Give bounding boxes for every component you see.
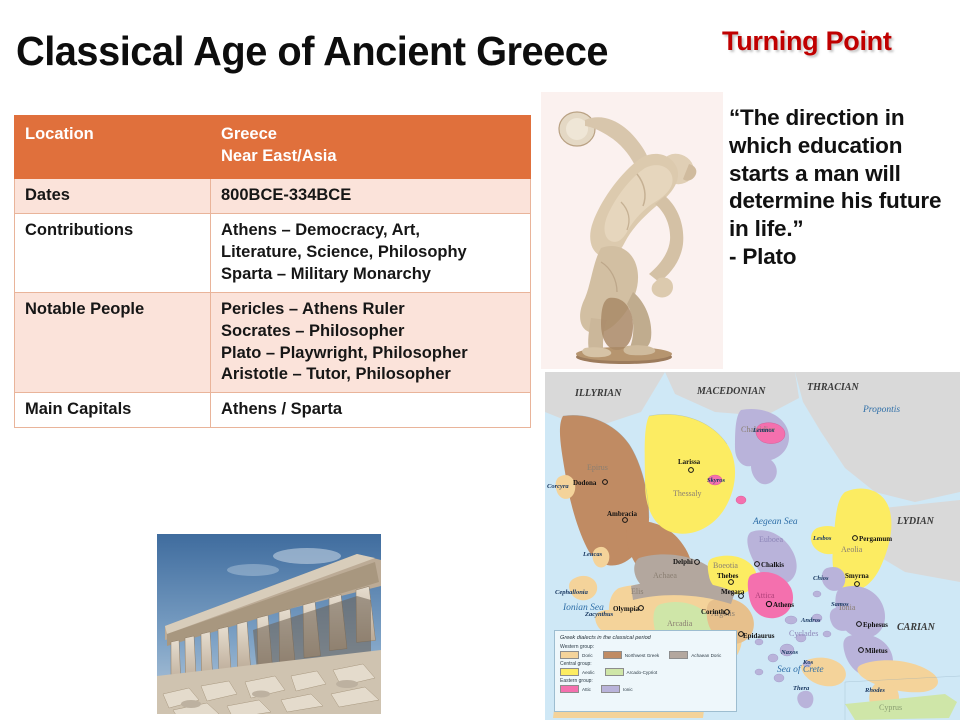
map-label-cephallonia: Cephallonia [555,589,589,596]
svg-text:Megara: Megara [721,588,745,596]
map-label-cyprus: Cyprus [879,703,902,712]
plato-quote: “The direction in which education starts… [729,104,951,271]
parthenon-image [157,534,381,714]
map-label-elis: Elis [631,587,643,596]
svg-text:Chalkis: Chalkis [761,561,784,569]
map-label-chios: Chios [813,575,829,582]
legend-group-title: Central group: [560,661,731,667]
table-row-value: Athens – Democracy, Art,Literature, Scie… [211,213,531,292]
table-cell-line: Socrates – Philosopher [221,321,530,343]
svg-text:Pergamum: Pergamum [859,535,892,543]
map-label-boeotia: Boeotia [713,561,738,570]
legend-group-row: DoricNorthwest GreekAchaean Doric [560,651,731,659]
svg-text:Corinth: Corinth [701,608,725,616]
map-label-epirus: Epirus [587,463,608,472]
map-label-carian: CARIAN [897,622,936,633]
map-label-thracian: THRACIAN [807,382,859,393]
svg-text:Larissa: Larissa [678,458,701,466]
map-label-achaea: Achaea [653,571,677,580]
legend-swatch [601,685,620,693]
table-cell-line: Aristotle – Tutor, Philosopher [221,364,530,386]
legend-group-title: Eastern group: [560,678,731,684]
page-title: Classical Age of Ancient Greece [16,28,608,75]
map-label-zacynthus: Zacynthus [584,611,614,618]
map-label-attica: Attica [755,591,775,600]
quote-text: “The direction in which education starts… [729,105,941,241]
map-label-cyclades: Cyclades [789,629,818,638]
legend-group-title: Western group: [560,644,731,650]
map-label-lemnos: Lemnos [752,427,775,434]
legend-swatch-label: Attic [582,687,591,692]
table-row: Notable PeoplePericles – Athens RulerSoc… [15,292,531,393]
table-row-label: Notable People [15,292,211,393]
map-label-aeolia: Aeolia [841,545,863,554]
table-row: Dates800BCE-334BCE [15,178,531,213]
map-label-samos: Samos [831,601,849,608]
legend-swatch-label: Northwest Greek [625,653,659,658]
map-label-euboea: Euboea [759,535,783,544]
map-label-illyrian: ILLYRIAN [574,388,622,399]
svg-text:Thebes: Thebes [717,572,739,580]
turning-point-badge: Turning Point [722,26,892,57]
svg-text:Epidaurus: Epidaurus [743,632,775,640]
legend-swatch [560,685,579,693]
slide-canvas: Classical Age of Ancient Greece Turning … [0,0,960,720]
map-label-naxos: Naxos [780,649,798,656]
table-cell-line: Sparta – Military Monarchy [221,264,530,286]
map-label-sea-of-crete: Sea of Crete [777,664,824,675]
table-row: LocationGreeceNear East/Asia [15,116,531,179]
map-label-aegean-sea: Aegean Sea [752,517,798,527]
map-label-andros: Andros [800,617,821,624]
table-row-label: Dates [15,178,211,213]
legend-title: Greek dialects in the classical period [560,635,731,641]
svg-text:Athens: Athens [773,601,794,609]
ancient-greece-map: ILLYRIAN MACEDONIAN THRACIAN LYDIAN CARI… [545,372,960,720]
legend-swatch-label: Achaean Doric [691,653,721,658]
facts-table: LocationGreeceNear East/AsiaDates800BCE-… [14,115,531,428]
statue-illustration [541,92,723,369]
table-cell-line: Greece [221,124,530,146]
svg-text:Smyrna: Smyrna [845,572,869,580]
legend-group-row: AtticIonic [560,685,731,693]
map-label-lesbos: Lesbos [812,535,832,542]
map-legend: Greek dialects in the classical period W… [554,630,737,712]
quote-attribution: - Plato [729,243,951,271]
svg-text:Ephesus: Ephesus [863,621,888,629]
map-city-olympia: Olympia [613,605,643,613]
map-label-propontis: Propontis [862,405,900,415]
table-row-label: Contributions [15,213,211,292]
legend-swatch-label: Ionic [623,687,633,692]
map-city-epidaurus: Epidaurus [739,632,775,640]
table-row-value: Athens / Sparta [211,393,531,428]
table-cell-line: Pericles – Athens Ruler [221,299,530,321]
discobolus-statue-image [541,92,723,369]
table-cell-line: Athens – Democracy, Art, [221,220,530,242]
svg-text:Dodona: Dodona [573,479,597,487]
table-row: Main CapitalsAthens / Sparta [15,393,531,428]
table-cell-line: Near East/Asia [221,146,530,168]
map-label-lydian: LYDIAN [896,516,935,527]
legend-swatch [560,668,579,676]
map-city-pergamum: Pergamum [853,535,893,543]
legend-swatch [605,668,624,676]
map-label-rhodes: Rhodes [864,687,885,694]
svg-text:Delphi: Delphi [673,558,693,566]
table-row-value: Pericles – Athens RulerSocrates – Philos… [211,292,531,393]
svg-text:Miletus: Miletus [865,647,888,655]
svg-text:Olympia: Olympia [613,605,640,613]
table-cell-line: Plato – Playwright, Philosopher [221,343,530,365]
legend-swatch [603,651,622,659]
parthenon-illustration [157,534,381,714]
map-label-skyros: Skyros [707,477,726,484]
table-cell-line: 800BCE-334BCE [221,185,530,207]
map-label-kos: Kos [802,659,814,666]
legend-group-row: AeolicArcado-Cypriot [560,668,731,676]
map-label-corcyra: Corcyra [547,483,569,490]
map-label-arcadia: Arcadia [667,619,693,628]
map-label-leucas: Leucas [582,551,603,558]
svg-text:Ambracia: Ambracia [607,510,637,518]
table-row-value: 800BCE-334BCE [211,178,531,213]
legend-swatch-label: Doric [582,653,593,658]
map-label-thera: Thera [793,685,810,692]
table-row-label: Location [15,116,211,179]
table-cell-line: Athens / Sparta [221,399,530,421]
table-row-label: Main Capitals [15,393,211,428]
map-label-thessaly: Thessaly [673,489,701,498]
legend-swatch-label: Arcado-Cypriot [627,670,658,675]
table-row: ContributionsAthens – Democracy, Art,Lit… [15,213,531,292]
table-cell-line: Literature, Science, Philosophy [221,242,530,264]
legend-swatch-label: Aeolic [582,670,595,675]
legend-swatch [669,651,688,659]
legend-swatch [560,651,579,659]
table-row-value: GreeceNear East/Asia [211,116,531,179]
map-label-macedonian: MACEDONIAN [696,386,766,397]
